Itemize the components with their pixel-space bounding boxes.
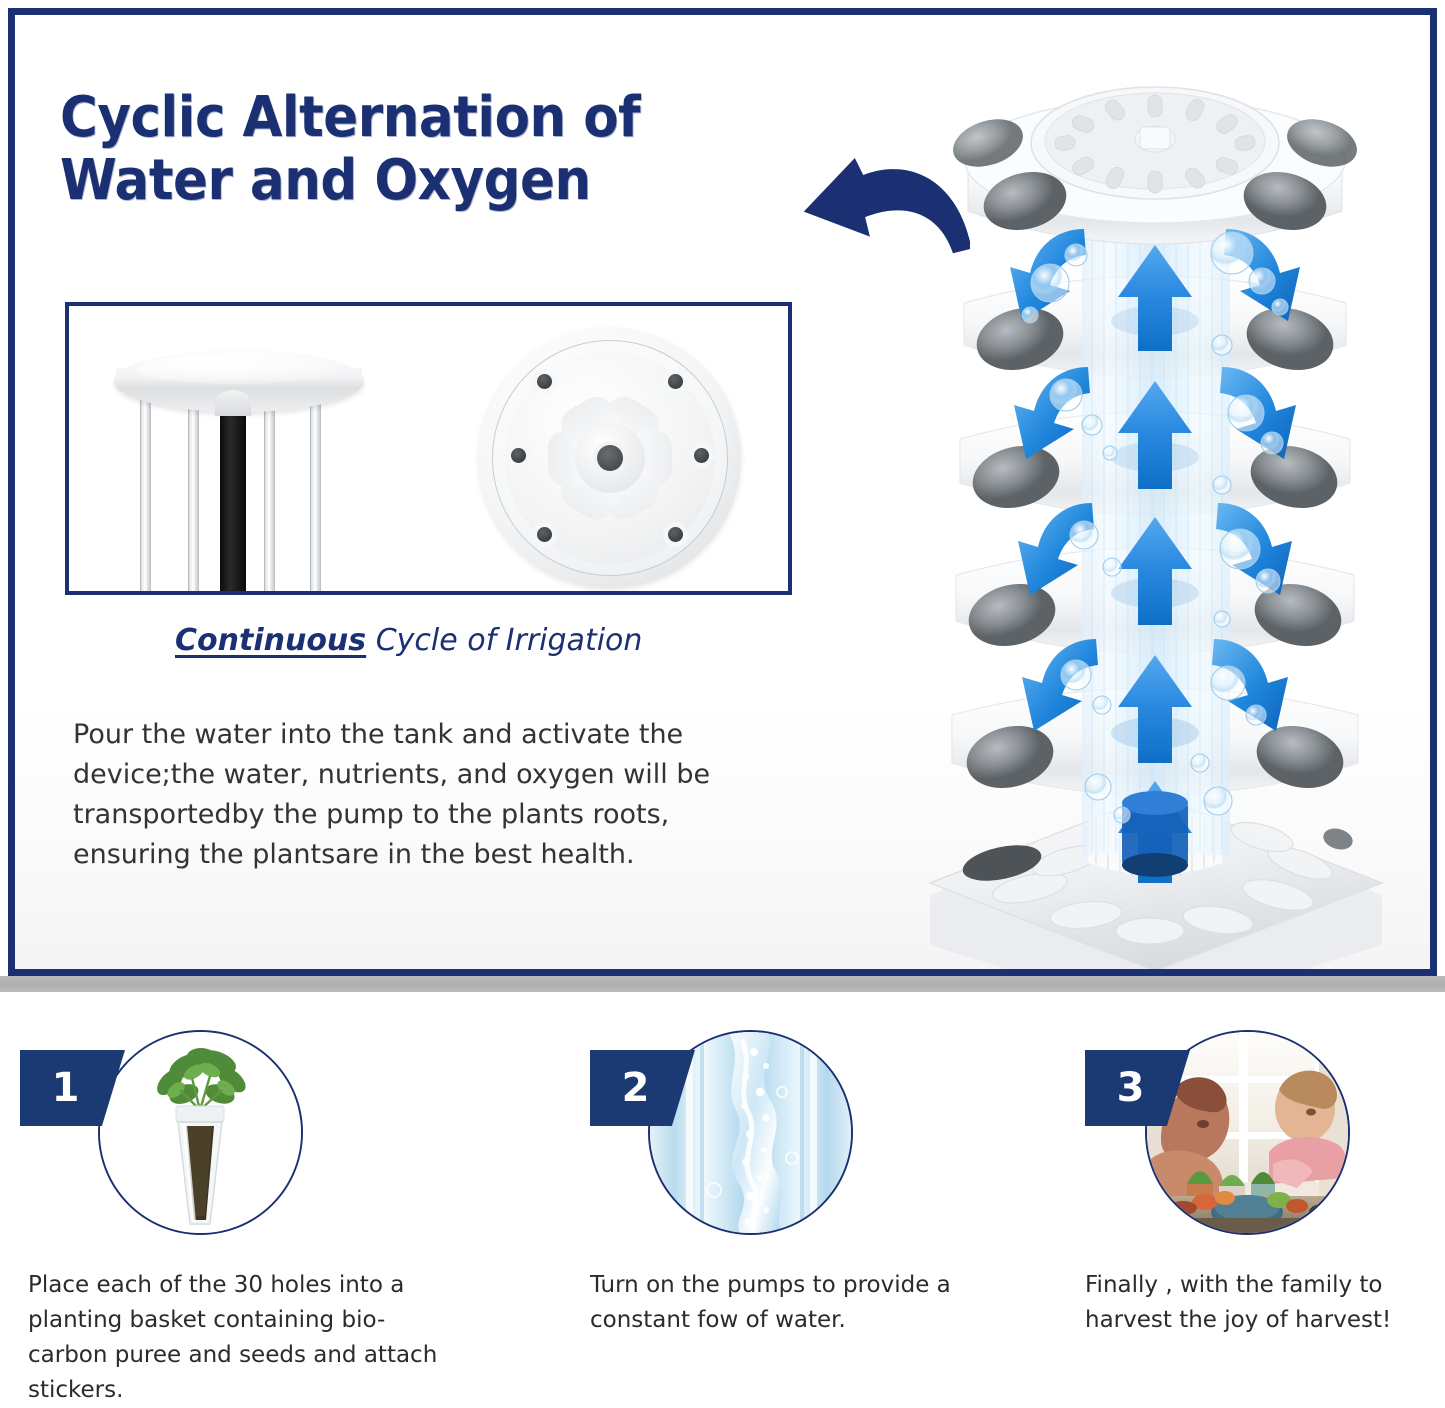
plate-screw bbox=[668, 374, 683, 389]
step-item: 3 Finally , with the family to harvest t… bbox=[1085, 1030, 1445, 1396]
plate-screw bbox=[537, 527, 552, 542]
inset-caption-rest: Cycle of Irrigation bbox=[366, 623, 642, 658]
seedling-pod-icon bbox=[98, 1030, 303, 1235]
feature-panel-background: Cyclic Alternation of Water and Oxygen bbox=[15, 15, 1430, 969]
title-line-1: Cyclic Alternation of bbox=[60, 85, 640, 150]
step-caption: Finally , with the family to harvest the… bbox=[1085, 1268, 1445, 1338]
page-title: Cyclic Alternation of Water and Oxygen bbox=[60, 87, 704, 212]
pump-cylinder bbox=[1122, 791, 1188, 877]
cap-highlight bbox=[136, 354, 336, 384]
dark-tube-cap bbox=[215, 390, 251, 416]
clear-tube bbox=[188, 400, 199, 595]
clear-tube bbox=[140, 400, 151, 595]
tower-top-cap bbox=[947, 87, 1363, 244]
plate-screw bbox=[537, 374, 552, 389]
inset-caption: Continuous Cycle of Irrigation bbox=[175, 623, 642, 658]
step-item: 1 Place each of the 30 holes into a plan… bbox=[20, 1030, 480, 1396]
feature-panel: Cyclic Alternation of Water and Oxygen bbox=[8, 8, 1437, 976]
distributor-plate-image bbox=[479, 328, 741, 588]
hydroponic-tower-image bbox=[870, 15, 1436, 976]
clear-tube bbox=[310, 400, 321, 595]
description-paragraph: Pour the water into the tank and activat… bbox=[73, 715, 793, 875]
step-media: 3 bbox=[1085, 1030, 1385, 1235]
step-caption: Turn on the pumps to provide a constant … bbox=[590, 1268, 1010, 1338]
plate-screw bbox=[511, 448, 526, 463]
product-detail-inset bbox=[65, 302, 792, 595]
plate-center-hole bbox=[597, 445, 623, 471]
steps-section: 1 Place each of the 30 holes into a plan… bbox=[0, 1030, 1445, 1396]
step-item: 2 Turn on the pumps to provide a constan… bbox=[590, 1030, 1050, 1396]
inset-photo-area bbox=[69, 306, 788, 591]
inset-caption-strong: Continuous bbox=[175, 623, 366, 658]
step-caption: Place each of the 30 holes into a planti… bbox=[28, 1268, 448, 1408]
plate-face bbox=[505, 352, 715, 564]
plate-screw bbox=[668, 527, 683, 542]
title-line-2: Water and Oxygen bbox=[60, 148, 591, 213]
plate-screw bbox=[694, 448, 709, 463]
distribution-cap-assembly-image bbox=[114, 328, 364, 595]
clear-tube bbox=[264, 400, 275, 595]
dark-pump-tube bbox=[220, 406, 246, 595]
section-divider bbox=[0, 976, 1445, 992]
step-media: 1 bbox=[20, 1030, 320, 1235]
step-media: 2 bbox=[590, 1030, 890, 1235]
